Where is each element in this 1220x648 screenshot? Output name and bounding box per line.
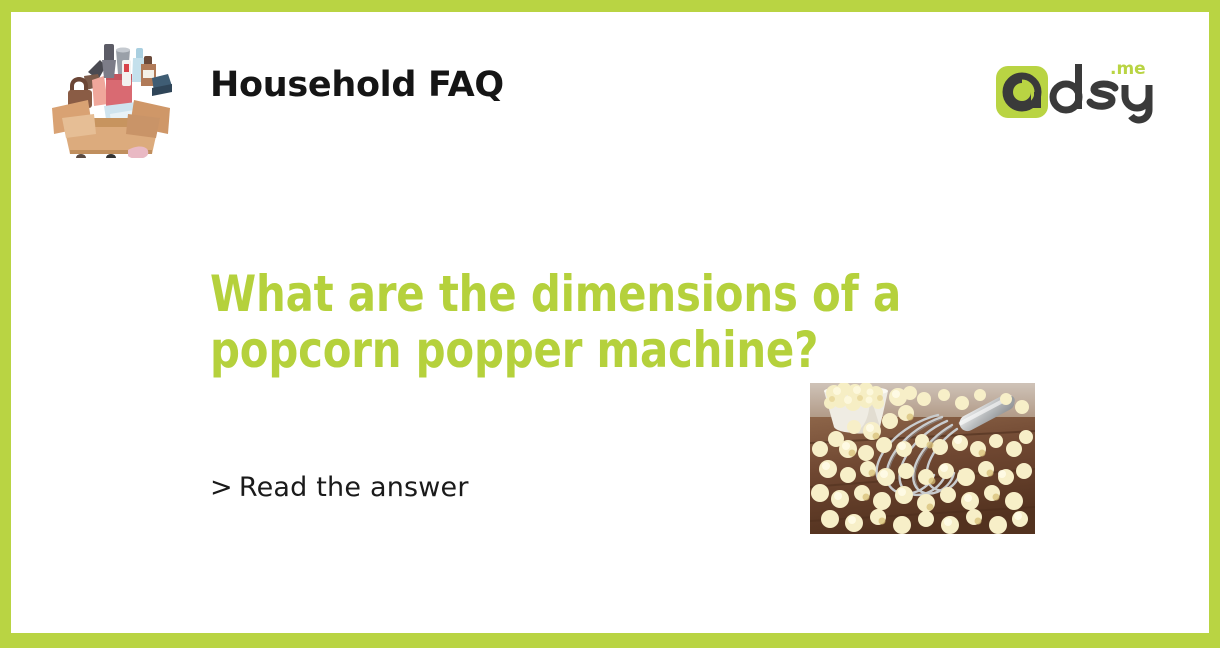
popcorn-photo (810, 383, 1035, 534)
adsy-logo[interactable]: .me (996, 52, 1156, 130)
cardboard-box-of-household-items-icon (48, 30, 174, 158)
chevron-right-icon: > (210, 472, 233, 503)
page-header: Household FAQ (11, 12, 1209, 172)
faq-question-headline: What are the dimensions of a popcorn pop… (210, 266, 1001, 378)
read-the-answer-link[interactable]: >Read the answer (210, 472, 469, 503)
faq-card: Household FAQ (0, 0, 1220, 648)
logo-tld: .me (1110, 59, 1146, 79)
read-the-answer-label: Read the answer (239, 472, 469, 503)
page-title: Household FAQ (210, 65, 504, 105)
card-inner: Household FAQ (11, 12, 1209, 633)
